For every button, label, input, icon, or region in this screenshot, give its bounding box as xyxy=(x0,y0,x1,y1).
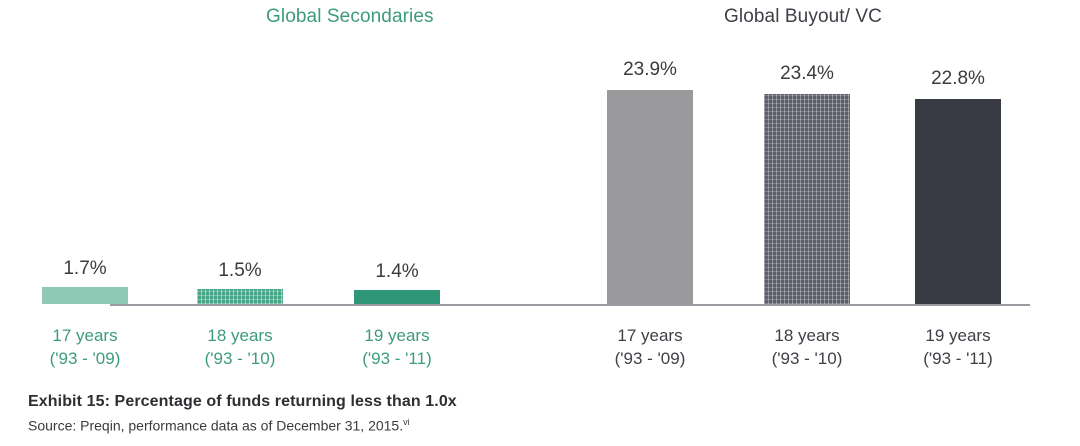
bar-slot-3: 1.4% xyxy=(312,0,482,318)
bar-value-label-1: 1.7% xyxy=(0,258,170,280)
bar-2-secondaries-18-years[interactable] xyxy=(197,289,283,304)
bar-value-label-5: 23.4% xyxy=(722,63,892,85)
category-label-1: 17 years ('93 - '09) xyxy=(0,324,170,370)
category-label-5-line2: ('93 - '10) xyxy=(722,347,892,370)
bar-1-secondaries-17-years[interactable] xyxy=(42,287,128,304)
bar-3-secondaries-19-years[interactable] xyxy=(354,290,440,304)
caption-source: Source: Preqin, performance data as of D… xyxy=(28,417,1052,434)
category-label-3-line1: 19 years xyxy=(312,324,482,347)
bar-slot-1: 1.7% xyxy=(0,0,170,318)
bar-slot-4: 23.9% xyxy=(565,0,735,318)
caption-source-footnote-marker: vi xyxy=(403,417,410,427)
bar-value-label-3: 1.4% xyxy=(312,261,482,283)
category-label-3: 19 years ('93 - '11) xyxy=(312,324,482,370)
bar-slot-6: 22.8% xyxy=(873,0,1043,318)
category-label-1-line2: ('93 - '09) xyxy=(0,347,170,370)
category-label-6-line2: ('93 - '11) xyxy=(873,347,1043,370)
category-label-2: 18 years ('93 - '10) xyxy=(155,324,325,370)
category-label-4-line2: ('93 - '09) xyxy=(565,347,735,370)
caption-title: Exhibit 15: Percentage of funds returnin… xyxy=(28,393,1052,411)
bar-slot-5: 23.4% xyxy=(722,0,892,318)
category-label-1-line1: 17 years xyxy=(0,324,170,347)
bar-6-buyout-19-years[interactable] xyxy=(915,99,1001,304)
category-label-6: 19 years ('93 - '11) xyxy=(873,324,1043,370)
category-label-2-line2: ('93 - '10) xyxy=(155,347,325,370)
category-label-4-line1: 17 years xyxy=(565,324,735,347)
category-label-3-line2: ('93 - '11) xyxy=(312,347,482,370)
bar-value-label-2: 1.5% xyxy=(155,260,325,282)
category-label-4: 17 years ('93 - '09) xyxy=(565,324,735,370)
caption-source-text: Source: Preqin, performance data as of D… xyxy=(28,418,403,434)
bar-value-label-4: 23.9% xyxy=(565,59,735,81)
bar-4-buyout-17-years[interactable] xyxy=(607,90,693,304)
chart-caption: Exhibit 15: Percentage of funds returnin… xyxy=(28,393,1052,434)
category-label-6-line1: 19 years xyxy=(873,324,1043,347)
category-label-5: 18 years ('93 - '10) xyxy=(722,324,892,370)
bar-slot-2: 1.5% xyxy=(155,0,325,318)
bar-chart-plot: 1.7% 1.5% 1.4% 23.9% 23.4% 22.8% xyxy=(0,0,1080,318)
bar-value-label-6: 22.8% xyxy=(873,68,1043,90)
bar-5-buyout-18-years[interactable] xyxy=(764,94,850,304)
category-label-5-line1: 18 years xyxy=(722,324,892,347)
category-label-2-line1: 18 years xyxy=(155,324,325,347)
